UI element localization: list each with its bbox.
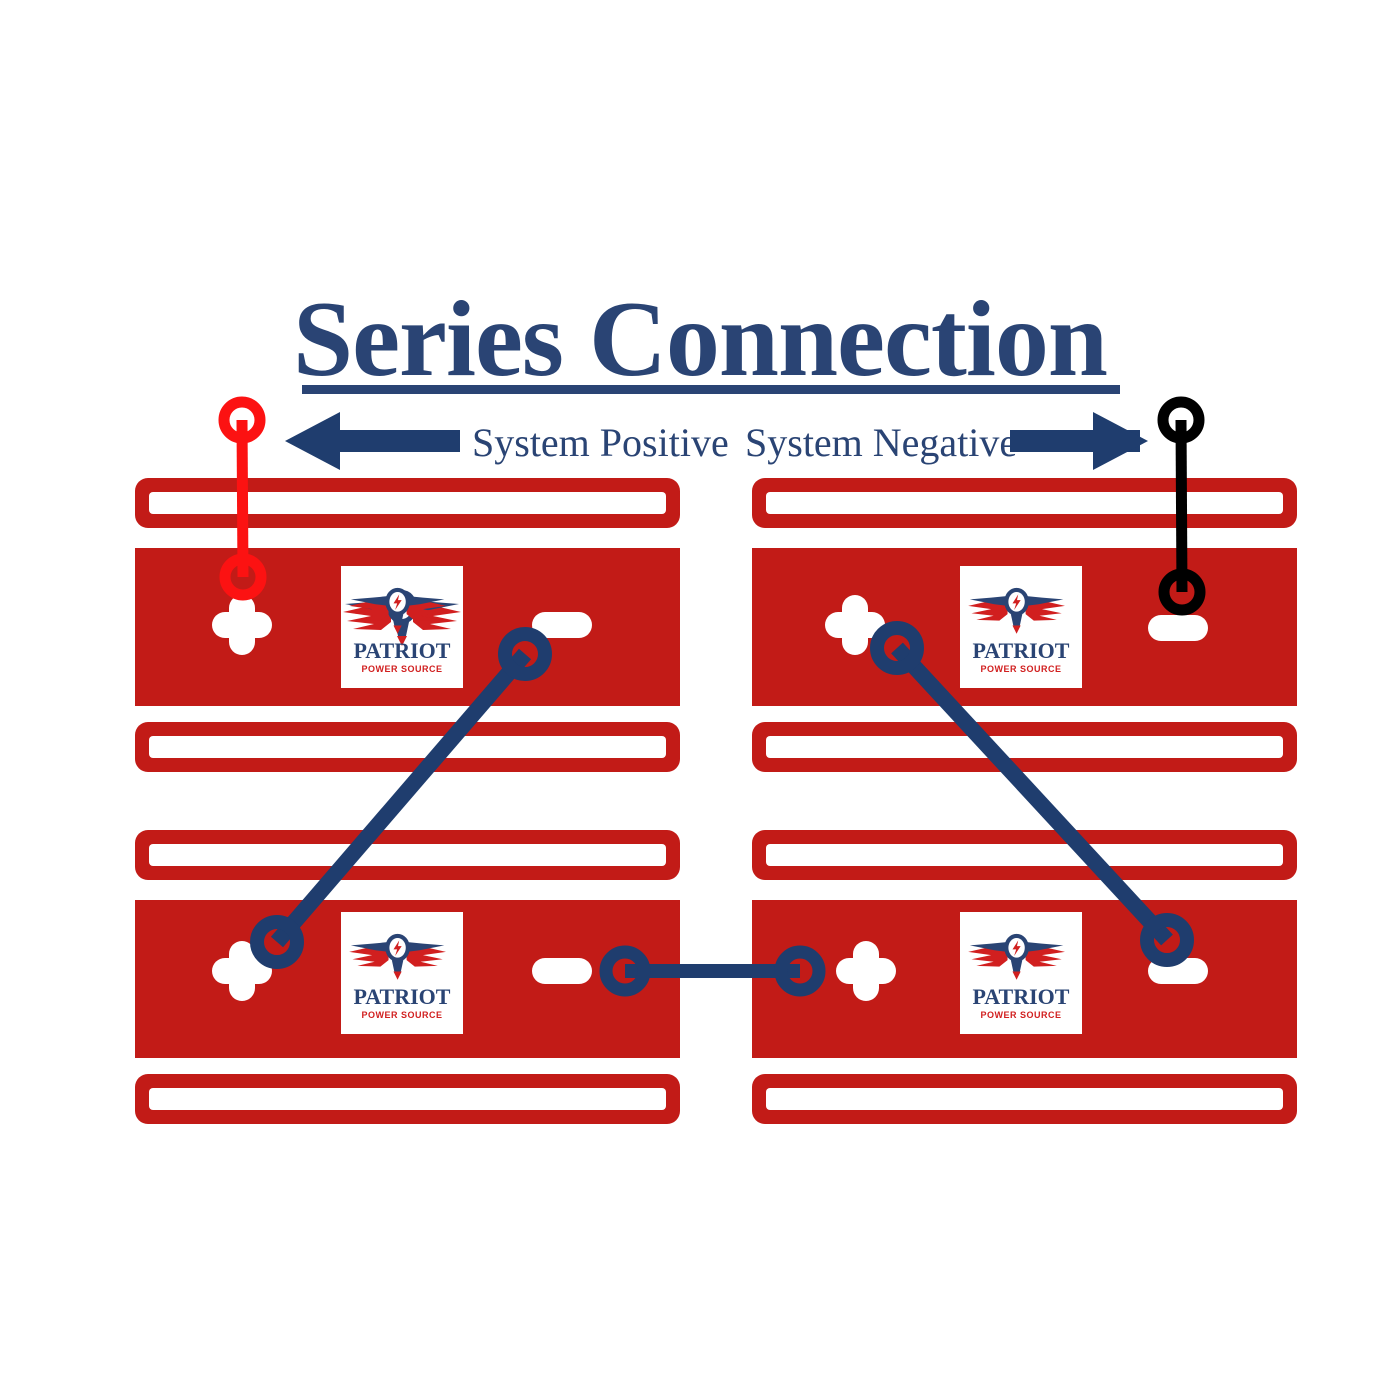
battery-bottom-left[interactable]: PATRIOT POWER SOURCE (135, 830, 680, 1124)
cable-link-middle-horizontal[interactable] (606, 952, 819, 990)
battery-top-right-logo: PATRIOT POWER SOURCE (960, 566, 1082, 688)
title-underline (302, 385, 1120, 394)
logo-brand-text: PATRIOT (973, 984, 1070, 1009)
diagram-canvas: Series Connection System Positive System… (0, 0, 1400, 1400)
system-positive-group: System Positive (285, 412, 729, 470)
battery-bottom-left-logo: PATRIOT POWER SOURCE (341, 912, 463, 1034)
battery-top-left-logo: PATRIOT POWER SOURCE (341, 566, 463, 688)
system-positive-label: System Positive (472, 420, 729, 465)
arrow-right-icon (1010, 412, 1148, 470)
battery-bottom-left-minus-terminal[interactable] (532, 958, 592, 984)
battery-top-right[interactable]: PATRIOT POWER SOURCE (752, 478, 1297, 772)
system-negative-group: System Negative (745, 412, 1148, 470)
logo-tagline-text: POWER SOURCE (980, 1010, 1061, 1020)
page-title: Series Connection (293, 280, 1120, 399)
battery-top-right-minus-terminal[interactable] (1148, 615, 1208, 641)
logo-tagline-text: POWER SOURCE (361, 1010, 442, 1020)
logo-tagline-text: POWER SOURCE (361, 664, 442, 674)
logo-tagline-text: POWER SOURCE (980, 664, 1061, 674)
battery-bottom-right-logo: PATRIOT POWER SOURCE (960, 912, 1082, 1034)
battery-bottom-right[interactable]: PATRIOT POWER SOURCE (752, 830, 1297, 1124)
logo-brand-text: PATRIOT (354, 984, 451, 1009)
system-negative-label: System Negative (745, 420, 1017, 465)
page-title-text: Series Connection (293, 280, 1107, 399)
logo-brand-text: PATRIOT (354, 638, 451, 663)
battery-top-left[interactable]: PATRIOT POWER SOURCE (135, 478, 680, 772)
arrow-left-icon (285, 412, 460, 470)
logo-brand-text: PATRIOT (973, 638, 1070, 663)
